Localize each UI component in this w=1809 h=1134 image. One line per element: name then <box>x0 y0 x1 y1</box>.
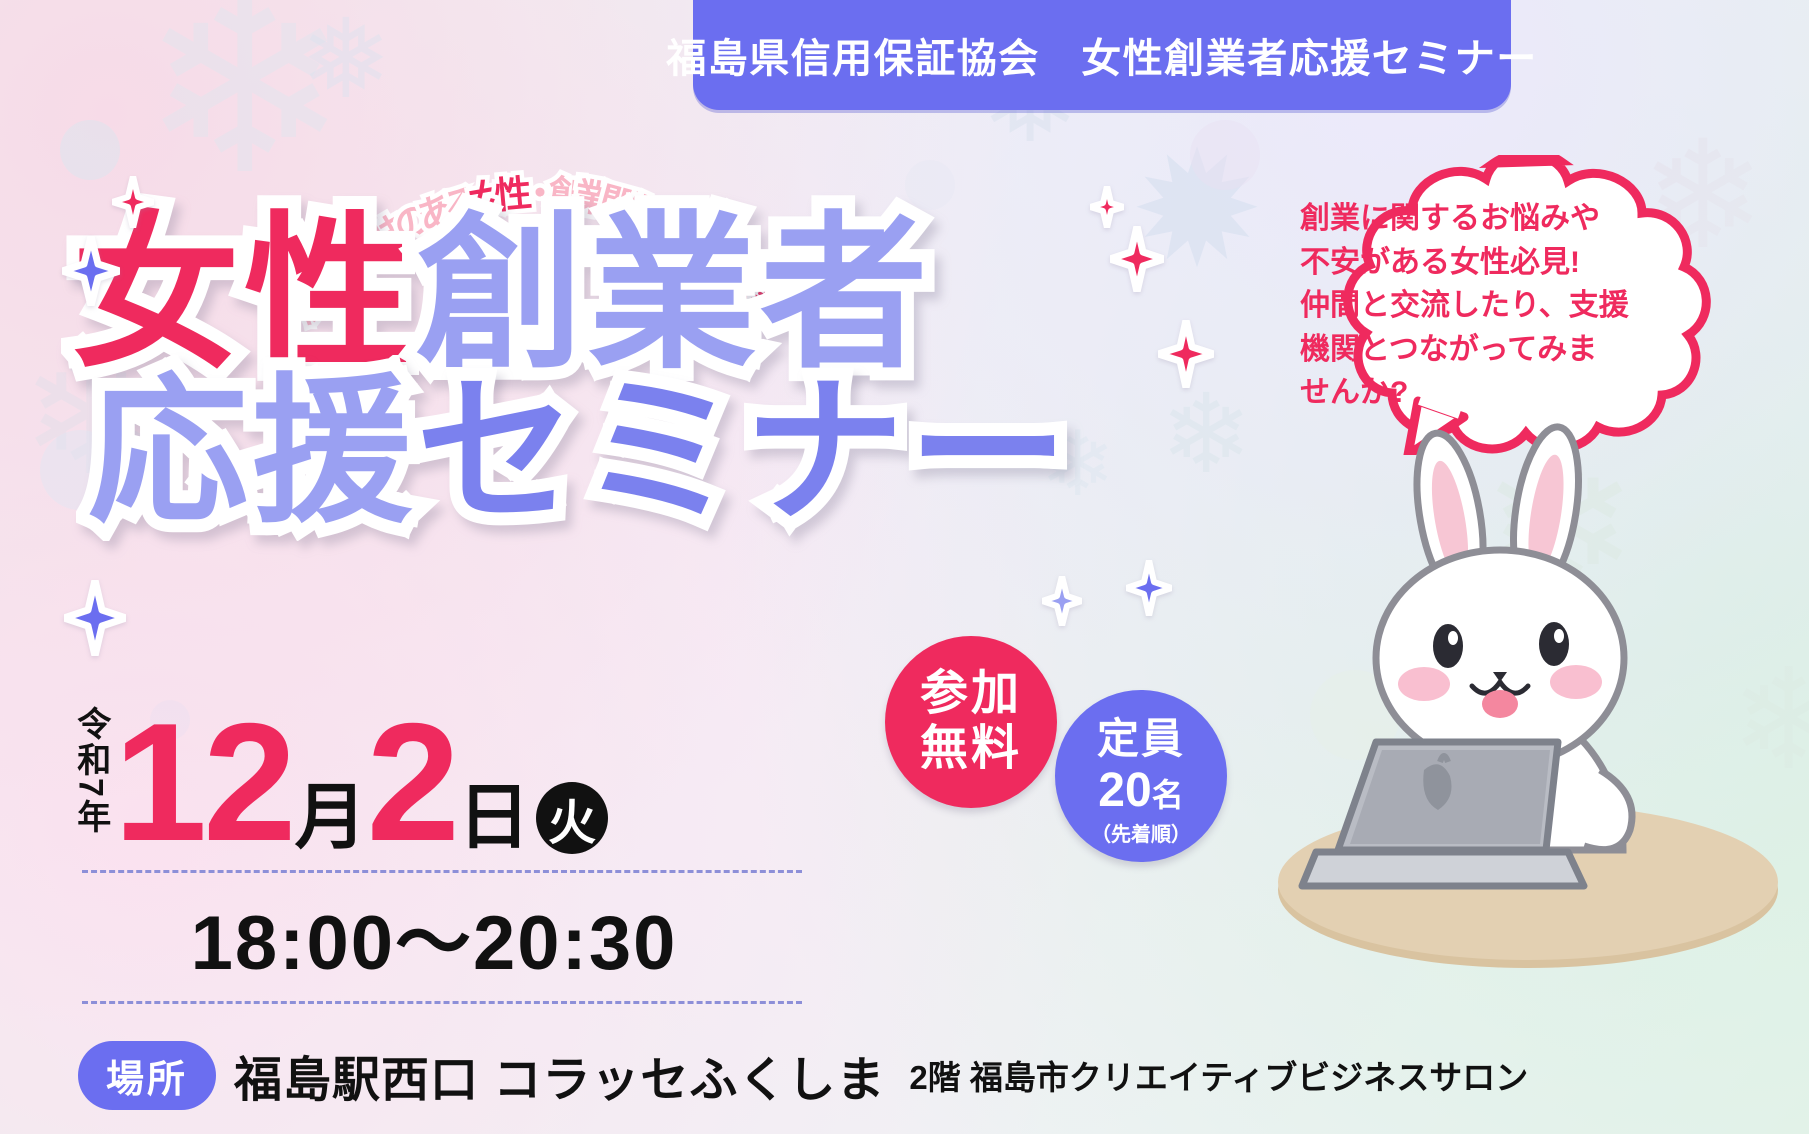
speech-line-2: 不安がある女性必見! <box>1300 241 1692 285</box>
header-title: 福島県信用保証協会 女性創業者応援セミナー <box>666 26 1538 84</box>
capacity-badge-count: 20名 <box>1098 766 1183 816</box>
snowflake-icon: ❅ <box>300 5 392 115</box>
day-number: 2 <box>367 705 456 860</box>
venue-row: 場所 福島駅西口 コラッセふくしま 2階 福島市クリエイティブビジネスサロン <box>78 1040 1528 1110</box>
free-badge-line2: 無料 <box>920 722 1022 777</box>
month-number: 12 <box>114 705 293 860</box>
header-banner: 福島県信用保証協会 女性創業者応援セミナー <box>693 0 1511 110</box>
laptop-icon <box>1302 742 1584 886</box>
venue-main-text: 福島駅西口 コラッセふくしま <box>234 1040 885 1110</box>
venue-label-pill: 場所 <box>78 1041 216 1110</box>
speech-line-5: せんか? <box>1300 371 1692 415</box>
sparkle-icon <box>1158 320 1214 388</box>
capacity-unit: 名 <box>1152 777 1184 813</box>
main-title-line1: 女性創業者 <box>72 200 1082 388</box>
venue-sub-text: 2階 福島市クリエイティブビジネスサロン <box>909 1051 1528 1099</box>
main-title-line2-part1: 応援 <box>88 362 416 541</box>
main-title-line2: 応援セミナー <box>88 362 1082 541</box>
date-row: 令和7年 12 月 2 日 火 <box>72 700 832 860</box>
speech-bubble: 創業に関するお悩みや 不安がある女性必見! 仲間と交流したり、支援 機関とつなが… <box>1268 155 1720 455</box>
sparkle-icon <box>1110 226 1164 292</box>
speech-line-3: 仲間と交流したり、支援 <box>1300 284 1692 328</box>
speech-line-4: 機関とつながってみま <box>1300 328 1692 372</box>
speech-line-1: 創業に関するお悩みや <box>1300 197 1692 241</box>
speech-bubble-text: 創業に関するお悩みや 不安がある女性必見! 仲間と交流したり、支援 機関とつなが… <box>1300 197 1692 415</box>
sparkle-icon <box>64 580 126 656</box>
free-badge-line1: 参加 <box>920 667 1022 722</box>
rabbit-eye-right <box>1539 622 1569 666</box>
capacity-number: 20 <box>1098 764 1151 817</box>
divider-bottom <box>82 1001 802 1004</box>
main-title-line1-part1: 女性 <box>72 200 416 388</box>
capacity-badge-note: （先着順） <box>1091 818 1191 847</box>
capacity-badge: 定員 20名 （先着順） <box>1055 690 1227 862</box>
rabbit-icon <box>1228 420 1808 980</box>
main-title-line2-part2: セミナー <box>416 362 1072 541</box>
sparkle-icon <box>1090 186 1124 228</box>
date-block: 令和7年 12 月 2 日 火 18:00〜20:30 <box>72 700 832 1004</box>
day-unit: 日 <box>458 782 530 854</box>
snowflake-icon: ✹ <box>1130 130 1264 290</box>
event-poster: ❄ ❄ ❅ ✹ ❄ ❄ ❄ ❄ ❄ ❅ 福島県信用保証協会 女性創業者応援セミナ… <box>0 0 1809 1134</box>
rabbit-eye-left <box>1433 624 1463 668</box>
event-time: 18:00〜20:30 <box>84 881 784 991</box>
main-title: 女性創業者 応援セミナー <box>72 200 1082 541</box>
month-unit: 月 <box>295 782 367 854</box>
era-label: 令和7年 <box>72 706 108 854</box>
main-title-line1-part2: 創業者 <box>416 200 932 388</box>
sparkle-icon <box>1042 576 1082 626</box>
sparkle-icon <box>1126 560 1172 616</box>
rabbit-head <box>1376 550 1624 766</box>
decorative-dot <box>1190 120 1260 190</box>
day-of-week-badge: 火 <box>536 782 608 854</box>
capacity-badge-label: 定員 <box>1097 705 1185 766</box>
free-participation-badge: 参加 無料 <box>885 636 1057 808</box>
